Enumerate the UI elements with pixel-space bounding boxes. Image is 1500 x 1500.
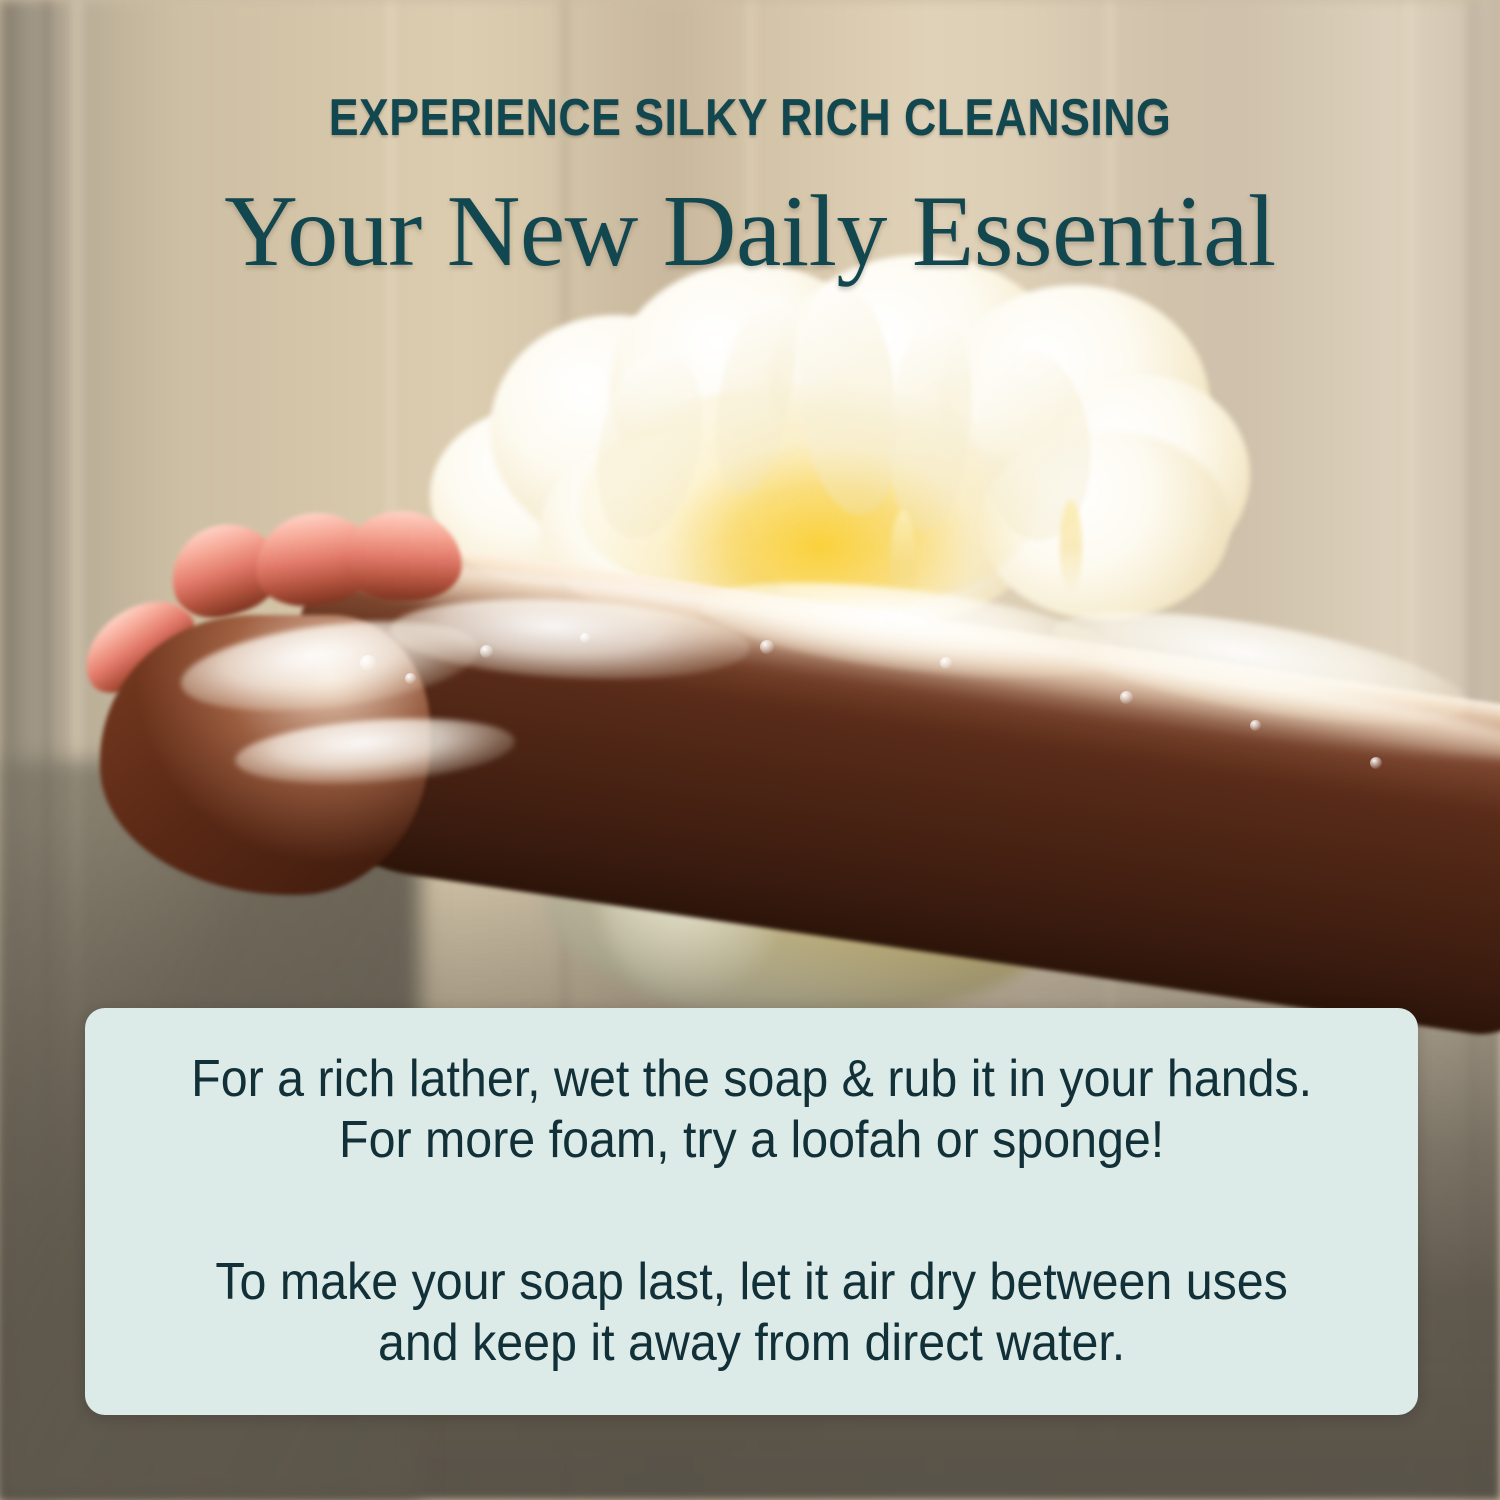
eyebrow-heading: EXPERIENCE SILKY RICH CLEANSING (105, 88, 1395, 148)
instruction-paragraph-care: To make your soap last, let it air dry b… (215, 1252, 1287, 1375)
instructions-panel: For a rich lather, wet the soap & rub it… (85, 1008, 1418, 1415)
finger (340, 509, 463, 603)
instruction-paragraph-lather: For a rich lather, wet the soap & rub it… (191, 1049, 1312, 1172)
page-title: Your New Daily Essential (0, 173, 1500, 290)
marketing-image-canvas: EXPERIENCE SILKY RICH CLEANSING Your New… (0, 0, 1500, 1500)
